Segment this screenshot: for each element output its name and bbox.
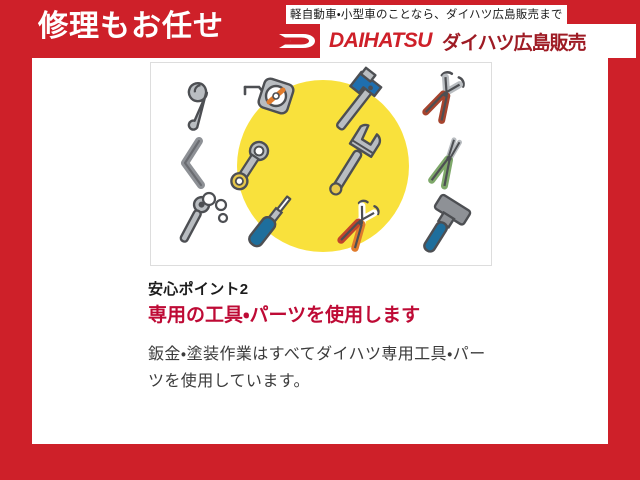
- open-end-wrench-icon: [171, 80, 219, 132]
- daihatsu-d-mark-icon: [274, 24, 320, 58]
- point-label: 安心ポイント2: [148, 280, 548, 300]
- point-body: 鈑金・塗装作業はすべてダイハツ専用工具・パーツを使用しています。: [148, 341, 493, 395]
- logo-wordmark: DAIHATSU: [329, 29, 432, 53]
- text-block: 安心ポイント2 専用の工具・パーツを使用します 鈑金・塗装作業はすべてダイハツ専…: [148, 280, 548, 395]
- content-card: 安心ポイント2 専用の工具・パーツを使用します 鈑金・塗装作業はすべてダイハツ専…: [32, 58, 608, 444]
- slide-root: 修理もお任せ 軽自動車・小型車のことなら、ダイハツ広島販売まで DAIHATSU…: [0, 0, 640, 480]
- socket-ratchet-icon: [176, 181, 239, 255]
- tape-measure-icon: [245, 77, 295, 115]
- hex-key-icon: [185, 141, 201, 185]
- logo-dealer-name: ダイハツ広島販売: [442, 28, 586, 55]
- page-title: 修理もお任せ: [38, 9, 224, 45]
- dealer-logo-block: 軽自動車・小型車のことなら、ダイハツ広島販売まで DAIHATSU ダイハツ広島…: [274, 4, 636, 58]
- mallet-hammer-icon: [413, 194, 472, 260]
- logo-tagline: 軽自動車・小型車のことなら、ダイハツ広島販売まで: [286, 5, 567, 24]
- point-headline: 専用の工具・パーツを使用します: [148, 305, 493, 327]
- header-banner: 修理もお任せ 軽自動車・小型車のことなら、ダイハツ広島販売まで DAIHATSU…: [0, 0, 640, 58]
- long-nose-pliers-icon: [432, 138, 463, 186]
- slip-joint-pliers-icon: [423, 70, 466, 122]
- tools-illustration: [150, 62, 492, 266]
- logo-row: DAIHATSU ダイハツ広島販売: [274, 24, 636, 58]
